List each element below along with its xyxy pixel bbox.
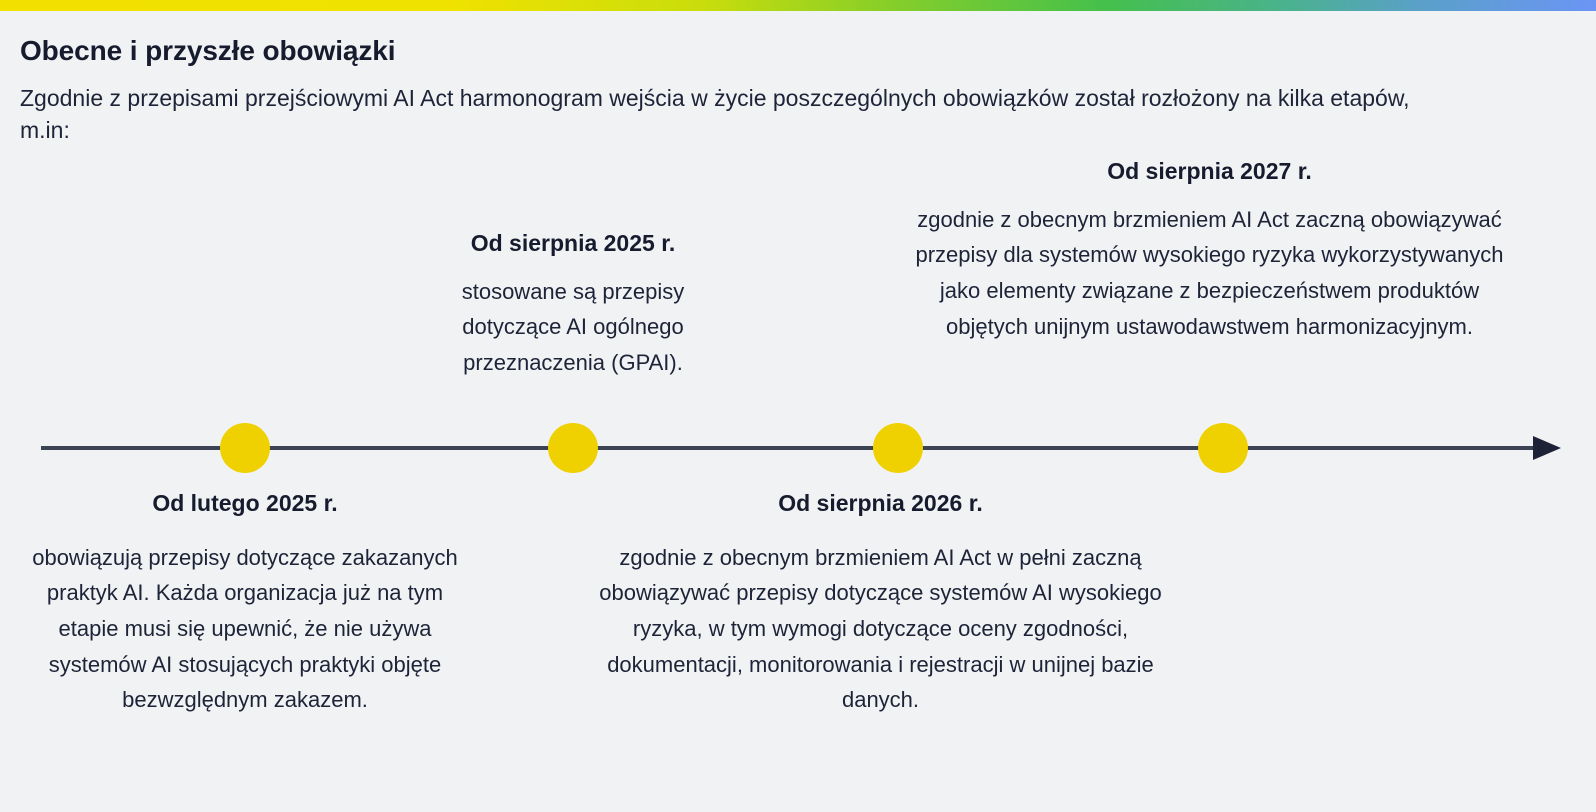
infographic-root: Obecne i przyszłe obowiązki Zgodnie z pr… — [0, 0, 1596, 812]
milestone-2025-08: Od sierpnia 2025 r. stosowane są przepis… — [413, 229, 733, 381]
milestone-heading: Od lutego 2025 r. — [25, 489, 465, 518]
milestone-2027-08: Od sierpnia 2027 r. zgodnie z obecnym br… — [897, 157, 1522, 344]
milestone-body: zgodnie z obecnym brzmieniem AI Act zacz… — [897, 202, 1522, 345]
milestone-heading: Od sierpnia 2026 r. — [573, 489, 1188, 518]
page-title: Obecne i przyszłe obowiązki — [20, 34, 1450, 68]
milestone-heading: Od sierpnia 2025 r. — [413, 229, 733, 258]
intro-paragraph: Zgodnie z przepisami przejściowymi AI Ac… — [20, 82, 1420, 147]
axis-arrow-icon — [1533, 436, 1561, 460]
milestone-2025-02: Od lutego 2025 r. obowiązują przepisy do… — [25, 489, 465, 718]
timeline-dot-2[interactable] — [548, 423, 598, 473]
timeline-dot-4[interactable] — [1198, 423, 1248, 473]
milestone-body: obowiązują przepisy dotyczące zakazanych… — [25, 540, 465, 718]
timeline-dot-1[interactable] — [220, 423, 270, 473]
timeline-axis — [0, 430, 1596, 468]
milestone-2026-08: Od sierpnia 2026 r. zgodnie z obecnym br… — [573, 489, 1188, 718]
top-gradient-bar — [0, 0, 1596, 11]
header-block: Obecne i przyszłe obowiązki Zgodnie z pr… — [20, 34, 1450, 147]
milestone-heading: Od sierpnia 2027 r. — [897, 157, 1522, 186]
timeline-dot-3[interactable] — [873, 423, 923, 473]
milestone-body: zgodnie z obecnym brzmieniem AI Act w pe… — [573, 540, 1188, 718]
milestone-body: stosowane są przepisy dotyczące AI ogóln… — [413, 274, 733, 381]
